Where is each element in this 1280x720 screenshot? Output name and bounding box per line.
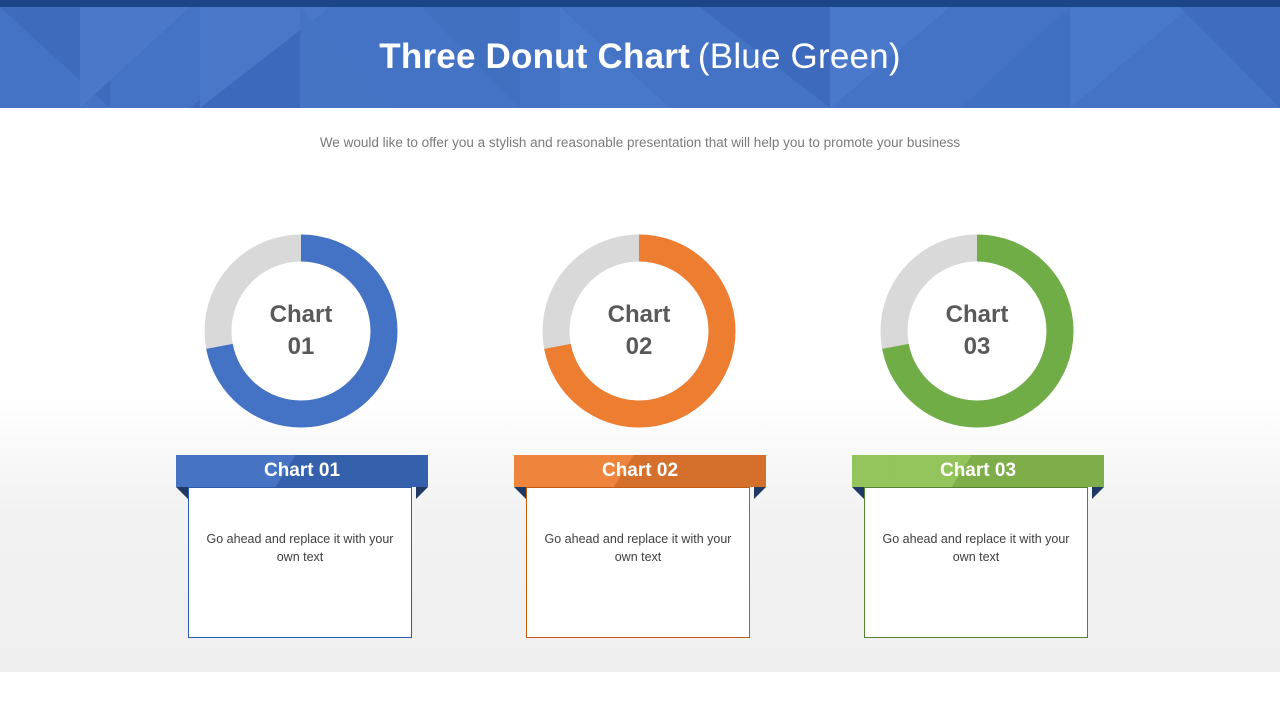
chart-card-03-body-text: Go ahead and replace it with your own te… — [881, 530, 1071, 637]
banner-fold-left — [176, 487, 188, 499]
chart-card-01-body-text: Go ahead and replace it with your own te… — [205, 530, 395, 637]
banner-fold-right — [1092, 487, 1104, 499]
donut-chart-03: Chart 03 — [879, 233, 1075, 429]
donut-chart-01: Chart 01 — [203, 233, 399, 429]
page-title-main: Three Donut Chart — [379, 37, 690, 77]
donut-chart-02: Chart 02 — [541, 233, 737, 429]
donut-chart-03-svg — [879, 233, 1075, 429]
chart-card-03-banner[interactable]: Chart 03 — [852, 455, 1104, 487]
banner-fold-right — [416, 487, 428, 499]
page-title: Three Donut Chart (Blue Green) — [0, 0, 1280, 108]
chart-card-01: Chart 01 Go ahead and replace it with yo… — [176, 455, 428, 487]
slide-canvas: Three Donut Chart (Blue Green) We would … — [0, 0, 1280, 720]
banner-fold-left — [852, 487, 864, 499]
page-title-suffix: (Blue Green) — [698, 37, 901, 77]
donut-chart-02-svg — [541, 233, 737, 429]
chart-card-03: Chart 03 Go ahead and replace it with yo… — [852, 455, 1104, 487]
donut-chart-01-svg — [203, 233, 399, 429]
chart-card-01-banner-label: Chart 01 — [264, 460, 340, 482]
banner-fold-left — [514, 487, 526, 499]
chart-card-02-body-text: Go ahead and replace it with your own te… — [543, 530, 733, 637]
chart-card-01-banner[interactable]: Chart 01 — [176, 455, 428, 487]
chart-card-02-textbox[interactable]: Go ahead and replace it with your own te… — [526, 487, 750, 638]
chart-card-03-banner-label: Chart 03 — [940, 460, 1016, 482]
banner-fold-right — [754, 487, 766, 499]
chart-card-02: Chart 02 Go ahead and replace it with yo… — [514, 455, 766, 487]
chart-card-01-textbox[interactable]: Go ahead and replace it with your own te… — [188, 487, 412, 638]
slide-header: Three Donut Chart (Blue Green) — [0, 0, 1280, 108]
page-subtitle: We would like to offer you a stylish and… — [0, 135, 1280, 150]
chart-card-03-textbox[interactable]: Go ahead and replace it with your own te… — [864, 487, 1088, 638]
chart-card-02-banner[interactable]: Chart 02 — [514, 455, 766, 487]
chart-card-02-banner-label: Chart 02 — [602, 460, 678, 482]
